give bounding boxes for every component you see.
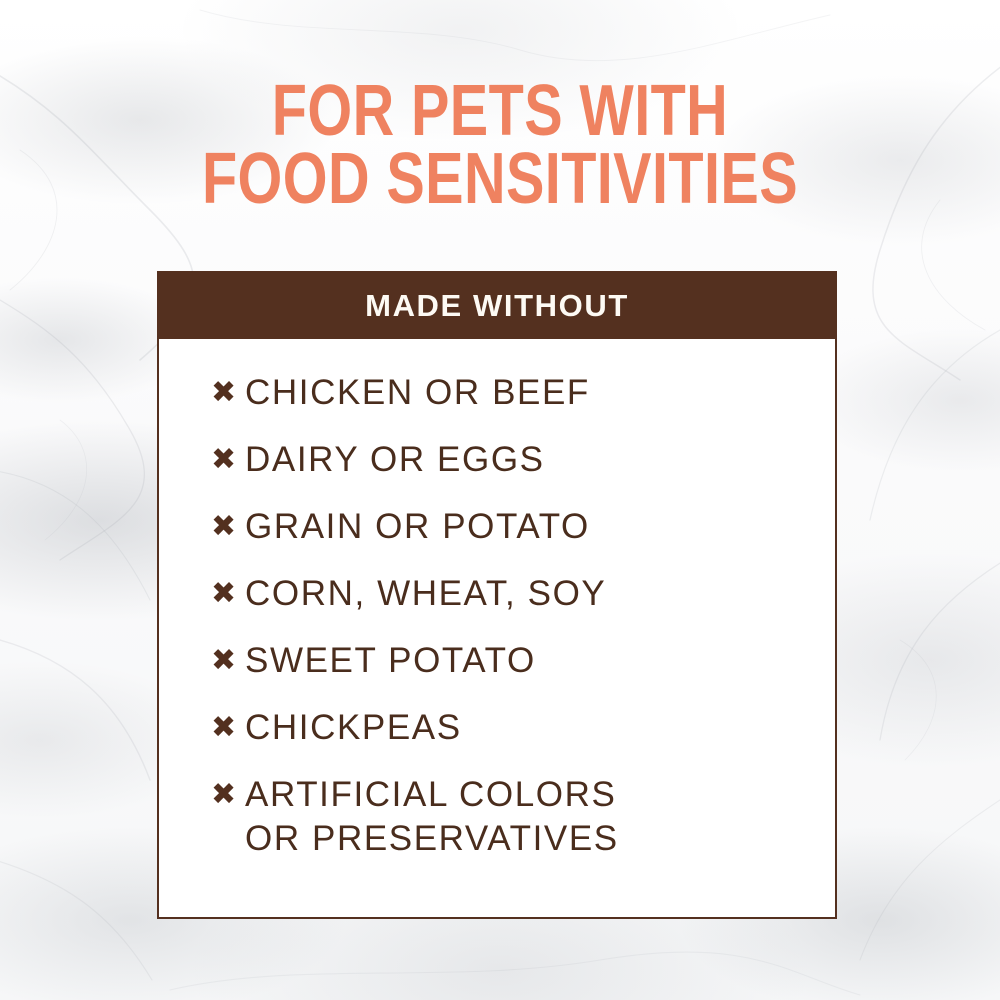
list-item-label: ARTIFICIAL COLORS OR PRESERVATIVES — [245, 773, 619, 861]
list-item-label: CHICKPEAS — [245, 706, 462, 750]
list-item-label: CORN, WHEAT, SOY — [245, 572, 606, 616]
list-item: ✖ SWEET POTATO — [211, 639, 835, 683]
page-headline: FOR PETS WITH FOOD SENSITIVITIES — [100, 78, 900, 213]
list-item: ✖ GRAIN OR POTATO — [211, 505, 835, 549]
x-mark-icon: ✖ — [211, 572, 245, 616]
x-mark-icon: ✖ — [211, 371, 245, 415]
list-item: ✖ ARTIFICIAL COLORS OR PRESERVATIVES — [211, 773, 835, 861]
list-item: ✖ DAIRY OR EGGS — [211, 438, 835, 482]
headline-line-1: FOR PETS WITH — [100, 78, 900, 146]
made-without-card: MADE WITHOUT ✖ CHICKEN OR BEEF ✖ DAIRY O… — [157, 271, 837, 919]
x-mark-icon: ✖ — [211, 438, 245, 482]
x-mark-icon: ✖ — [211, 706, 245, 750]
list-item: ✖ CHICKEN OR BEEF — [211, 371, 835, 415]
card-header-label: MADE WITHOUT — [365, 288, 629, 324]
list-item-label: GRAIN OR POTATO — [245, 505, 590, 549]
excluded-ingredients-list: ✖ CHICKEN OR BEEF ✖ DAIRY OR EGGS ✖ GRAI… — [211, 371, 835, 861]
headline-line-2: FOOD SENSITIVITIES — [100, 146, 900, 214]
product-feature-panel: FOR PETS WITH FOOD SENSITIVITIES MADE WI… — [0, 0, 1000, 1000]
x-mark-icon: ✖ — [211, 639, 245, 683]
list-item-label: SWEET POTATO — [245, 639, 536, 683]
list-item-label: CHICKEN OR BEEF — [245, 371, 590, 415]
card-body: ✖ CHICKEN OR BEEF ✖ DAIRY OR EGGS ✖ GRAI… — [159, 339, 835, 917]
list-item-label: DAIRY OR EGGS — [245, 438, 545, 482]
list-item: ✖ CHICKPEAS — [211, 706, 835, 750]
list-item: ✖ CORN, WHEAT, SOY — [211, 572, 835, 616]
x-mark-icon: ✖ — [211, 773, 245, 817]
card-header: MADE WITHOUT — [159, 273, 835, 339]
x-mark-icon: ✖ — [211, 505, 245, 549]
